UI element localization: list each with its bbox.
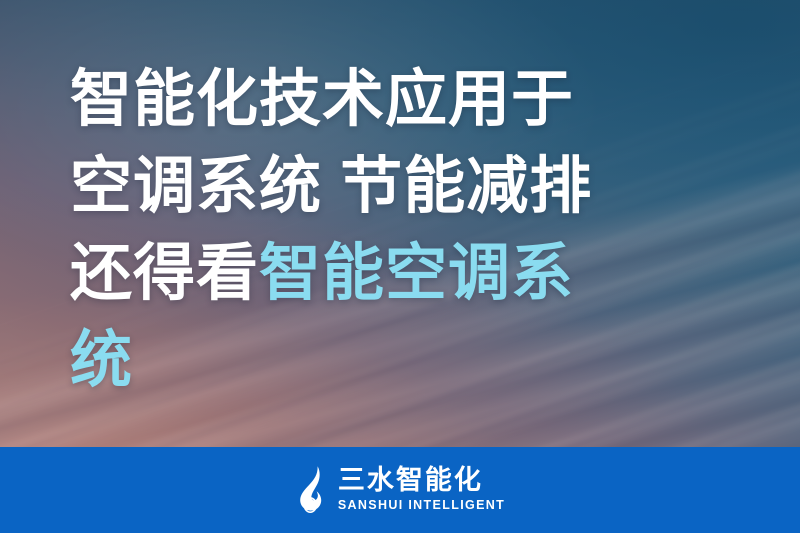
headline-line-3-white: 还得看 bbox=[70, 239, 259, 308]
headline-line-1-white: 智能化技术应用于 bbox=[70, 65, 574, 134]
brand-logo[interactable]: 三水智能化 SANSHUI INTELLIGENT bbox=[295, 465, 505, 515]
brand-logo-text: 三水智能化 SANSHUI INTELLIGENT bbox=[338, 466, 505, 515]
headline-line-2-white: 空调系统 节能减排 bbox=[70, 152, 592, 221]
promo-banner: 智能化技术应用于 空调系统 节能减排 还得看智能空调系 统 三水智能化 SANS… bbox=[0, 0, 800, 533]
headline-line-1: 智能化技术应用于 bbox=[70, 56, 760, 143]
headline-line-2: 空调系统 节能减排 bbox=[70, 143, 760, 230]
flame-droplet-icon bbox=[295, 465, 329, 515]
headline-line-3-accent: 智能空调系 bbox=[259, 239, 574, 308]
headline-line-4: 统 bbox=[70, 317, 760, 404]
headline-line-3: 还得看智能空调系 bbox=[70, 230, 760, 317]
brand-footer-bar: 三水智能化 SANSHUI INTELLIGENT bbox=[0, 447, 800, 533]
brand-name-cn: 三水智能化 bbox=[338, 466, 483, 495]
headline-line-4-accent: 统 bbox=[70, 326, 133, 395]
brand-name-en: SANSHUI INTELLIGENT bbox=[338, 496, 505, 515]
headline-block: 智能化技术应用于 空调系统 节能减排 还得看智能空调系 统 bbox=[70, 56, 760, 404]
